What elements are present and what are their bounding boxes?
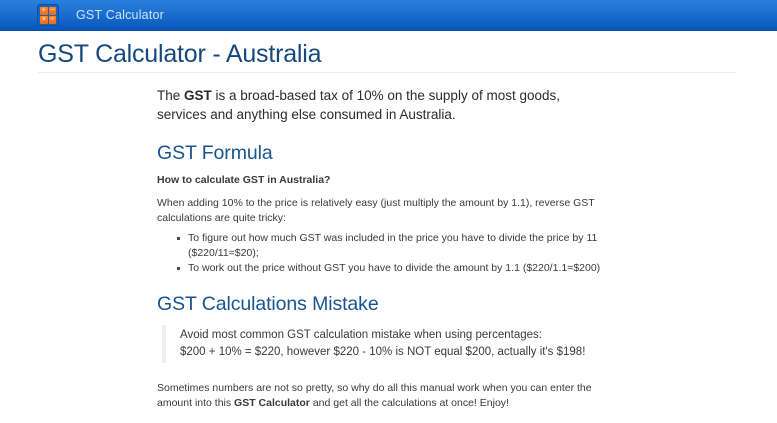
app-title: GST Calculator — [76, 8, 164, 22]
calculator-key-plus: + — [40, 7, 48, 15]
app-header-bar: + − × ÷ GST Calculator — [0, 0, 777, 31]
formula-paragraph: When adding 10% to the price is relative… — [157, 196, 609, 225]
mistake-line-1: Avoid most common GST calculation mistak… — [180, 327, 609, 344]
list-item: To figure out how much GST was included … — [188, 231, 609, 261]
intro-paragraph: The GST is a broad-based tax of 10% on t… — [157, 86, 597, 124]
title-divider — [38, 72, 736, 73]
calculator-key-minus: − — [49, 7, 57, 15]
main-content: The GST is a broad-based tax of 10% on t… — [157, 86, 609, 416]
outro-term-calculator: GST Calculator — [234, 397, 310, 409]
formula-lead-question: How to calculate GST in Australia? — [157, 174, 609, 186]
list-item: To work out the price without GST you ha… — [188, 261, 609, 276]
mistake-line-2: $200 + 10% = $220, however $220 - 10% is… — [180, 344, 609, 361]
outro-paragraph: Sometimes numbers are not so pretty, so … — [157, 381, 609, 410]
calculator-key-multiply: × — [40, 16, 48, 24]
page-title: GST Calculator - Australia — [38, 40, 321, 69]
section-heading-gst-formula: GST Formula — [157, 142, 609, 165]
intro-text-before: The — [157, 88, 184, 103]
mistake-callout: Avoid most common GST calculation mistak… — [162, 325, 609, 363]
intro-term-gst: GST — [184, 88, 212, 103]
section-heading-gst-mistake: GST Calculations Mistake — [157, 293, 609, 316]
calculator-icon: + − × ÷ — [37, 4, 59, 26]
outro-text-after: and get all the calculations at once! En… — [310, 397, 509, 409]
formula-bullet-list: To figure out how much GST was included … — [157, 231, 609, 276]
intro-text-after: is a broad-based tax of 10% on the suppl… — [157, 88, 560, 122]
calculator-key-divide: ÷ — [49, 16, 57, 24]
